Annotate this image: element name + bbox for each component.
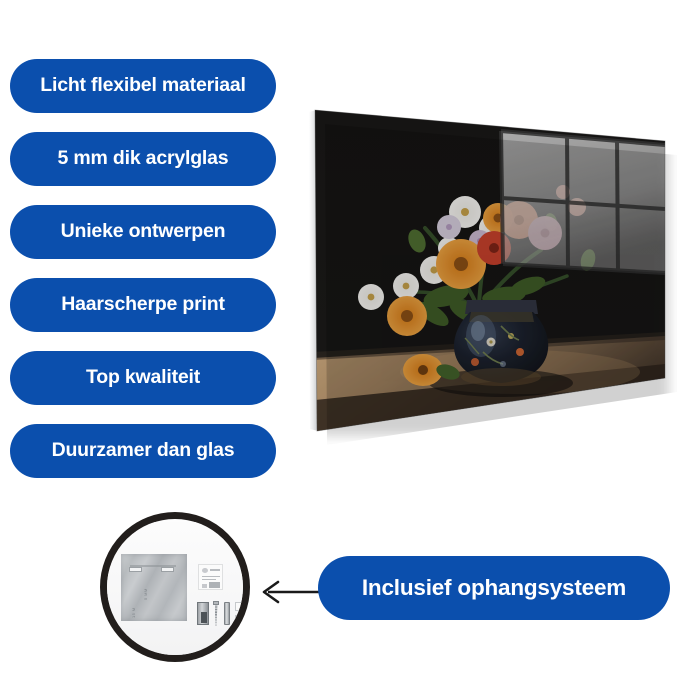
leaflet-graphic xyxy=(202,584,207,588)
instruction-leaflet-icon xyxy=(198,564,223,590)
aluminium-mounting-plate-icon: 5 MM 15 M xyxy=(121,554,187,621)
feature-badge-duurzamer-dan-glas[interactable]: Duurzamer dan glas xyxy=(10,424,276,478)
plate-mark-label: 15 M xyxy=(131,608,136,619)
spacer-cap-icon xyxy=(235,602,247,611)
feature-badge-list: Licht flexibel materiaal 5 mm dik acrylg… xyxy=(10,59,276,497)
callout-badge-inclusief-ophangsysteem[interactable]: Inclusief ophangsysteem xyxy=(318,556,670,620)
hanging-system-photo: 5 MM 15 M xyxy=(103,522,250,662)
feature-badge-label: Duurzamer dan glas xyxy=(52,441,235,461)
feature-badge-haarscherpe-print[interactable]: Haarscherpe print xyxy=(10,278,276,332)
product-panel-shadow xyxy=(317,114,669,436)
hanging-system-circle: 5 MM 15 M xyxy=(100,512,250,662)
screw-icon xyxy=(213,601,219,626)
spacer-cap-icon xyxy=(235,615,247,624)
feature-badge-unieke-ontwerpen[interactable]: Unieke ontwerpen xyxy=(10,205,276,259)
screw-head xyxy=(213,601,219,605)
feature-badge-label: Top kwaliteit xyxy=(86,368,200,388)
screw-shaft xyxy=(215,605,218,626)
plate-mark-label: 5 MM xyxy=(143,588,148,600)
leaflet-line xyxy=(210,569,220,571)
feature-badge-label: Haarscherpe print xyxy=(61,295,225,315)
leaflet-line xyxy=(202,576,220,577)
plate-slot-left xyxy=(129,567,142,572)
product-panel xyxy=(305,100,677,445)
feature-badge-top-kwaliteit[interactable]: Top kwaliteit xyxy=(10,351,276,405)
leaflet-graphic xyxy=(209,582,220,588)
feature-badge-label: 5 mm dik acrylglas xyxy=(58,149,229,169)
feature-badge-licht-flexibel-materiaal[interactable]: Licht flexibel materiaal xyxy=(10,59,276,113)
feature-badge-label: Licht flexibel materiaal xyxy=(40,76,245,96)
leaflet-graphic xyxy=(202,568,208,573)
feature-badge-5-mm-dik-acrylglas[interactable]: 5 mm dik acrylglas xyxy=(10,132,276,186)
leaflet-line xyxy=(202,579,216,580)
product-infographic-page: Licht flexibel materiaal 5 mm dik acrylg… xyxy=(0,0,700,700)
dowel-icon xyxy=(224,602,230,625)
callout-badge-label: Inclusief ophangsysteem xyxy=(362,577,626,600)
wall-anchor-icon xyxy=(197,602,209,625)
plate-slot-right xyxy=(161,567,174,572)
feature-badge-label: Unieke ontwerpen xyxy=(61,222,226,242)
